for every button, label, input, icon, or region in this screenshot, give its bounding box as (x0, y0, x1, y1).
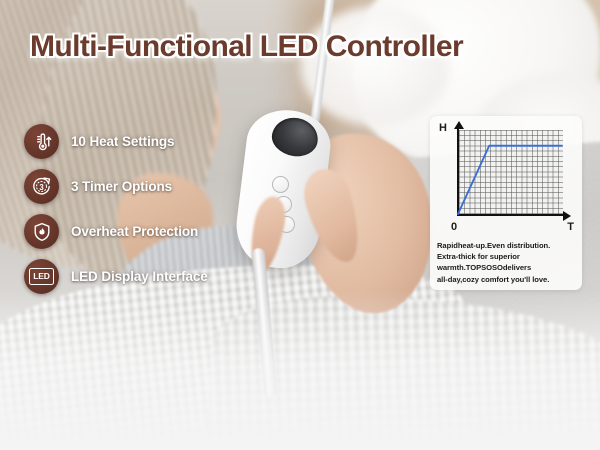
feature-label-overheat-protection: Overheat Protection (71, 224, 198, 239)
chart-caption-line-2: Extra-thick for superior (437, 251, 575, 262)
bottom-white-fade (0, 290, 600, 450)
led-badge-text: LED (29, 268, 54, 285)
feature-label-timer-options: 3 Timer Options (71, 179, 172, 194)
page-title: Multi-Functional LED Controller (30, 30, 463, 64)
svg-text:3: 3 (39, 183, 44, 192)
feature-item-led-display: LED LED Display Interface (24, 259, 208, 294)
chart-caption-line-4: all-day,cozy comfort you'll love. (437, 274, 575, 285)
chart-plot-area: H 0 T (437, 122, 575, 234)
feature-item-heat-settings: 10 Heat Settings (24, 124, 208, 159)
feature-label-heat-settings: 10 Heat Settings (71, 134, 174, 149)
feature-list: 10 Heat Settings 3 3 Timer Options Ov (24, 124, 208, 294)
chart-caption-line-1: Rapidheat-up.Even distribution. (437, 240, 575, 251)
shield-flame-icon (24, 214, 59, 249)
feature-label-led-display: LED Display Interface (71, 269, 208, 284)
chart-caption: Rapidheat-up.Even distribution. Extra-th… (437, 240, 575, 285)
chart-caption-line-3: warmth.TOPSOSOdelivers (437, 262, 575, 273)
chart-line-series (437, 122, 575, 234)
product-marketing-image: Multi-Functional LED Controller 10 Heat … (0, 0, 600, 450)
feature-item-timer-options: 3 3 Timer Options (24, 169, 208, 204)
feature-item-overheat-protection: Overheat Protection (24, 214, 208, 249)
controller-button-1 (272, 176, 289, 193)
led-display-icon: LED (24, 259, 59, 294)
timer-3-icon: 3 (24, 169, 59, 204)
heat-curve-chart-panel: H 0 T Rapidheat-up.Even distribution. Ex… (430, 116, 582, 290)
thermometer-up-icon (24, 124, 59, 159)
